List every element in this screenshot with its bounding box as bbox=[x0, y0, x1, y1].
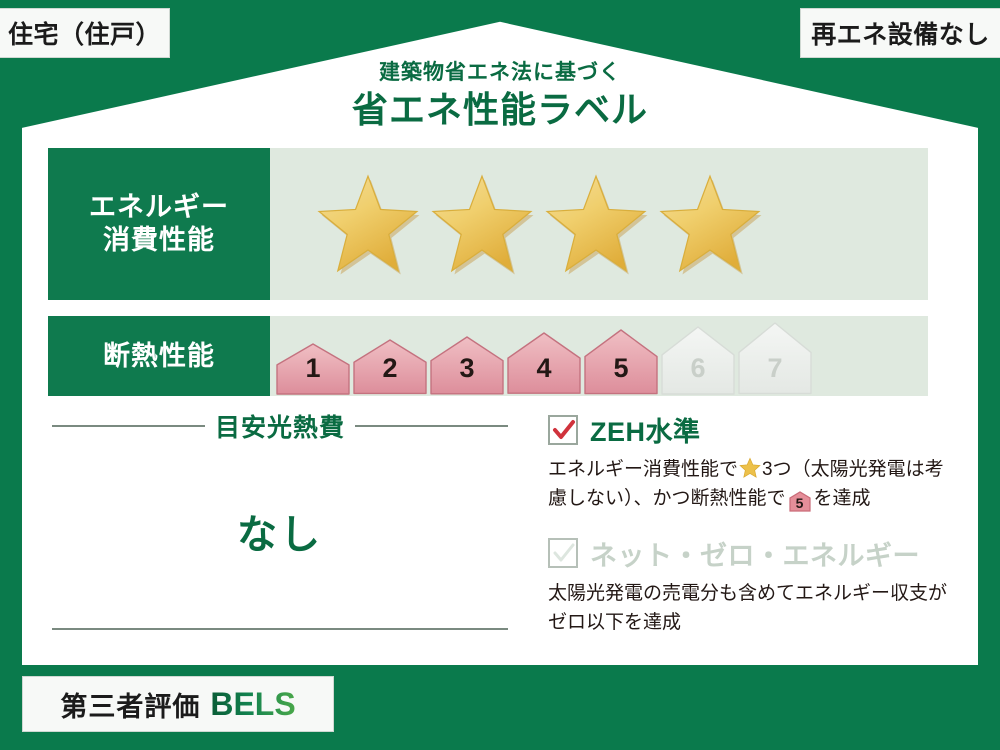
insulation-badge-inline-value: 5 bbox=[796, 495, 804, 511]
insulation-level-badge: 1 bbox=[276, 343, 350, 395]
insulation-level-value: 4 bbox=[536, 353, 551, 395]
net-zero-energy-heading: ネット・ゼロ・エネルギー bbox=[548, 534, 948, 573]
star-icon bbox=[428, 172, 536, 276]
insulation-level-value: 2 bbox=[382, 353, 397, 395]
star-icon bbox=[542, 172, 650, 276]
divider-left bbox=[52, 425, 205, 427]
label-title-block: 建築物省エネ法に基づく 省エネ性能ラベル bbox=[0, 60, 1000, 131]
insulation-level-value: 3 bbox=[459, 353, 474, 395]
insulation-level-value: 1 bbox=[305, 353, 320, 395]
insulation-level-badge: 2 bbox=[353, 339, 427, 394]
energy-performance-label: エネルギー 消費性能 bbox=[48, 148, 270, 300]
page-title: 省エネ性能ラベル bbox=[0, 89, 1000, 130]
energy-performance-row: エネルギー 消費性能 bbox=[48, 148, 928, 300]
building-type-tag-label: 住宅（住戸） bbox=[8, 15, 161, 51]
insulation-level-badge: 3 bbox=[430, 336, 504, 395]
utility-cost-block: 目安光熱費 なし bbox=[52, 408, 508, 630]
insulation-performance-label-text: 断熱性能 bbox=[103, 340, 215, 373]
third-party-evaluation-label: 第三者評価 bbox=[60, 685, 200, 724]
divider-bottom bbox=[52, 628, 508, 630]
insulation-level-scale: 1234567 bbox=[270, 316, 928, 396]
energy-star-rating bbox=[270, 148, 928, 300]
star-icon bbox=[314, 172, 422, 276]
utility-cost-title: 目安光熱費 bbox=[215, 408, 345, 444]
star-icon bbox=[656, 172, 764, 276]
insulation-level-badge: 4 bbox=[507, 332, 581, 394]
insulation-badge-inline: 5 bbox=[788, 490, 812, 512]
zeh-criteria-block: ZEH水準 エネルギー消費性能で 3つ（太陽光発電は考慮しない）、かつ断熱性能で… bbox=[548, 410, 948, 638]
bels-logo-text: BELS bbox=[210, 686, 295, 723]
utility-cost-heading: 目安光熱費 bbox=[52, 408, 508, 444]
insulation-performance-label: 断熱性能 bbox=[48, 316, 270, 396]
insulation-level-value: 5 bbox=[613, 353, 628, 395]
energy-label-root: 住宅（住戸） 再エネ設備なし 建築物省エネ法に基づく 省エネ性能ラベル エネルギ… bbox=[0, 0, 1000, 750]
zeh-desc-part1: エネルギー消費性能で bbox=[548, 459, 738, 480]
check-icon-muted bbox=[548, 538, 578, 568]
net-zero-energy-title: ネット・ゼロ・エネルギー bbox=[590, 534, 920, 573]
zeh-standard-heading: ZEH水準 bbox=[548, 410, 948, 449]
bels-certification-badge: 第三者評価 BELS bbox=[22, 676, 334, 732]
insulation-badge-list: 1234567 bbox=[276, 315, 812, 398]
divider-right bbox=[355, 425, 508, 427]
renewable-equipment-tag: 再エネ設備なし bbox=[800, 8, 1000, 58]
zeh-standard-item: ZEH水準 エネルギー消費性能で 3つ（太陽光発電は考慮しない）、かつ断熱性能で… bbox=[548, 410, 948, 514]
insulation-performance-row: 断熱性能 1234567 bbox=[48, 316, 928, 396]
energy-performance-label-line2: 消費性能 bbox=[103, 224, 215, 257]
insulation-level-value: 7 bbox=[767, 353, 782, 395]
star-icon bbox=[739, 457, 761, 479]
check-icon bbox=[548, 415, 578, 445]
zeh-desc-part3: を達成 bbox=[814, 488, 871, 509]
net-zero-energy-description: 太陽光発電の売電分も含めてエネルギー収支がゼロ以下を達成 bbox=[548, 580, 948, 638]
building-type-tag: 住宅（住戸） bbox=[0, 8, 170, 58]
insulation-level-value: 6 bbox=[690, 353, 705, 395]
zeh-standard-description: エネルギー消費性能で 3つ（太陽光発電は考慮しない）、かつ断熱性能で 5を達成 bbox=[548, 456, 948, 514]
insulation-level-badge: 5 bbox=[584, 329, 658, 395]
energy-performance-label-line1: エネルギー bbox=[89, 191, 229, 224]
utility-cost-value: なし bbox=[52, 502, 508, 560]
net-zero-energy-item: ネット・ゼロ・エネルギー 太陽光発電の売電分も含めてエネルギー収支がゼロ以下を達… bbox=[548, 534, 948, 638]
label-subtitle: 建築物省エネ法に基づく bbox=[0, 60, 1000, 85]
renewable-equipment-tag-label: 再エネ設備なし bbox=[811, 15, 990, 51]
insulation-level-badge: 6 bbox=[661, 326, 735, 395]
zeh-standard-title: ZEH水準 bbox=[590, 410, 701, 449]
insulation-level-badge: 7 bbox=[738, 322, 812, 394]
